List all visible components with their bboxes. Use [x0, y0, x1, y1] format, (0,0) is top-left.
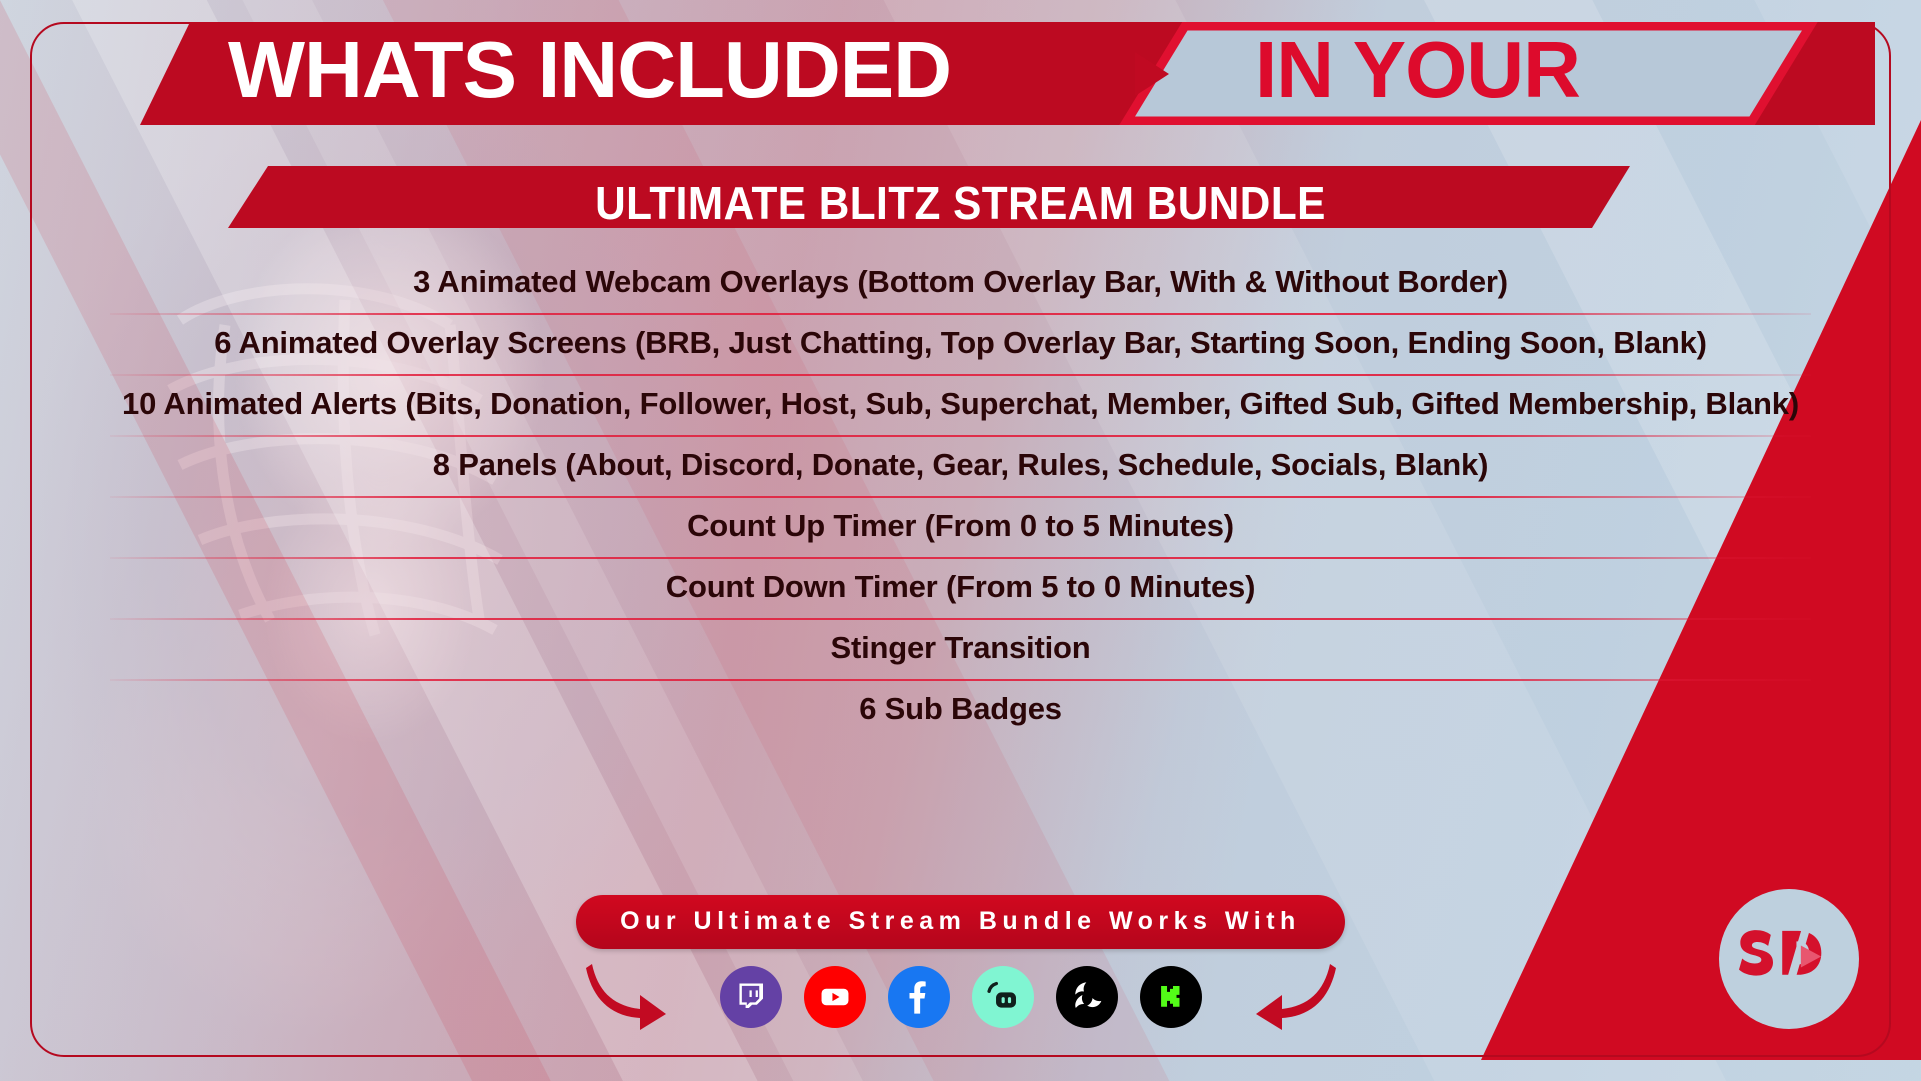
youtube-glyph-icon: [818, 980, 852, 1014]
feature-list: 3 Animated Webcam Overlays (Bottom Overl…: [80, 252, 1841, 740]
feature-item: 6 Sub Badges: [80, 679, 1841, 740]
curved-arrow-right-icon: [584, 962, 670, 1032]
header-title-red: IN YOUR: [1255, 24, 1580, 116]
feature-item: 3 Animated Webcam Overlays (Bottom Overl…: [80, 252, 1841, 313]
social-icon-kick[interactable]: [1140, 966, 1202, 1028]
twitch-glyph-icon: [733, 979, 769, 1015]
social-icon-youtube[interactable]: [804, 966, 866, 1028]
kick-glyph-icon: [1154, 980, 1188, 1014]
feature-item: Stinger Transition: [80, 618, 1841, 679]
social-icon-facebook[interactable]: [888, 966, 950, 1028]
social-icon-twitch[interactable]: [720, 966, 782, 1028]
play-triangle-icon: [1135, 52, 1169, 96]
feature-item: 6 Animated Overlay Screens (BRB, Just Ch…: [80, 313, 1841, 374]
curved-arrow-left-icon: [1252, 962, 1338, 1032]
feature-item: 8 Panels (About, Discord, Donate, Gear, …: [80, 435, 1841, 496]
sd-play-logo-icon: [1738, 926, 1840, 992]
promo-graphic: WHATS INCLUDED IN YOUR ULTIMATE BLITZ ST…: [0, 0, 1921, 1081]
facebook-glyph-icon: [899, 977, 939, 1017]
brand-logo: [1719, 889, 1859, 1029]
feature-item: Count Up Timer (From 0 to 5 Minutes): [80, 496, 1841, 557]
subtitle: ULTIMATE BLITZ STREAM BUNDLE: [77, 176, 1844, 230]
header-title-white: WHATS INCLUDED: [228, 24, 951, 116]
social-icon-obs[interactable]: [1056, 966, 1118, 1028]
feature-item: 10 Animated Alerts (Bits, Donation, Foll…: [80, 374, 1841, 435]
works-with-badge: Our Ultimate Stream Bundle Works With: [576, 895, 1345, 949]
feature-item: Count Down Timer (From 5 to 0 Minutes): [80, 557, 1841, 618]
streamlabs-glyph-icon: [984, 978, 1022, 1016]
social-icon-streamlabs[interactable]: [972, 966, 1034, 1028]
obs-glyph-icon: [1067, 977, 1107, 1017]
